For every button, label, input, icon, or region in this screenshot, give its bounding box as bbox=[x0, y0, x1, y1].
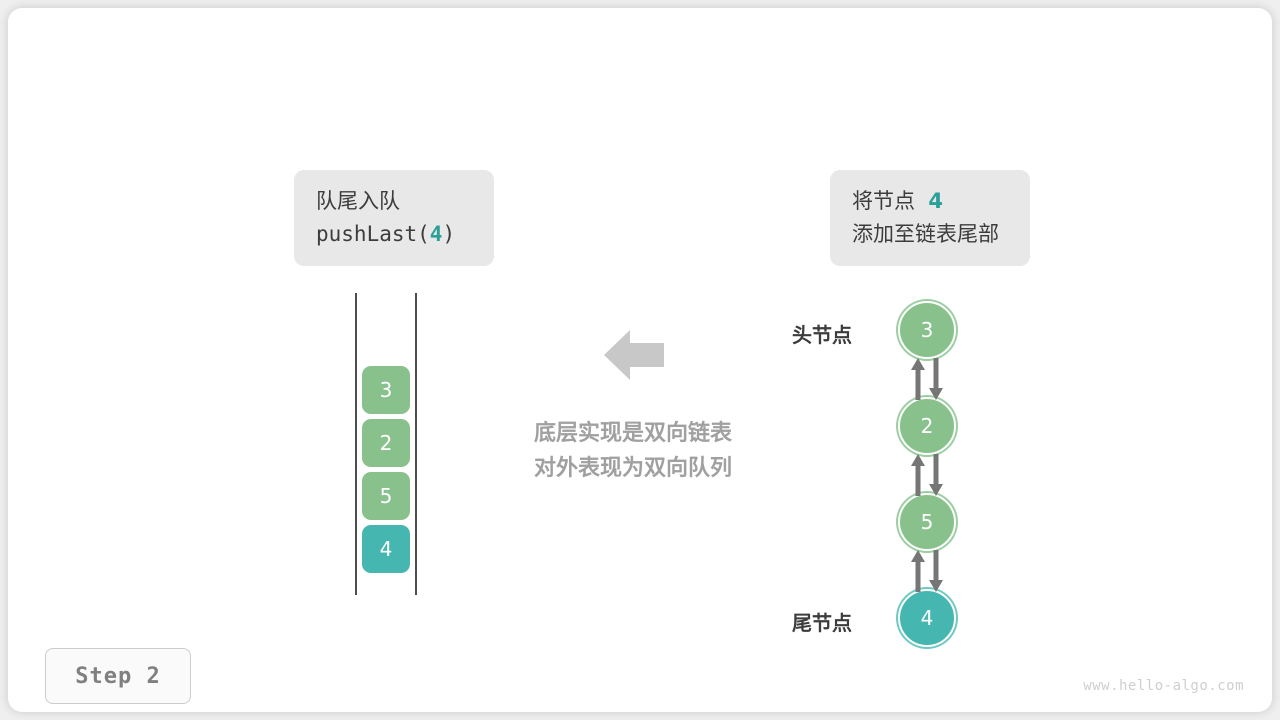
bidirectional-edge-icon bbox=[907, 358, 947, 400]
callout-left-code-value: 4 bbox=[430, 222, 443, 246]
callout-right-line2: 添加至链表尾部 bbox=[852, 218, 999, 251]
watermark: www.hello-algo.com bbox=[1083, 678, 1244, 694]
list-node: 5 bbox=[898, 493, 956, 551]
callout-right-line1-value: 4 bbox=[928, 189, 943, 213]
callout-left-code: pushLast(4) bbox=[316, 218, 455, 251]
list-node: 3 bbox=[898, 301, 956, 359]
callout-left-title: 队尾入队 bbox=[316, 185, 400, 218]
deque-cell: 5 bbox=[362, 472, 410, 520]
deque-cell: 3 bbox=[362, 366, 410, 414]
callout-left-code-suffix: ) bbox=[442, 222, 455, 246]
deque-rail-left bbox=[355, 293, 357, 595]
bidirectional-edge-icon bbox=[907, 454, 947, 496]
page-card: 队尾入队 pushLast(4) 将节点 4 添加至链表尾部 3 2 5 4 底… bbox=[8, 8, 1272, 712]
list-node: 2 bbox=[898, 397, 956, 455]
callout-left-code-prefix: pushLast( bbox=[316, 222, 430, 246]
left-arrow-icon bbox=[604, 328, 664, 382]
deque-cell: 4 bbox=[362, 525, 410, 573]
linked-list: 头节点 尾节点 3 2 5 4 bbox=[778, 293, 1008, 653]
callout-push-last: 队尾入队 pushLast(4) bbox=[294, 170, 494, 266]
head-node-label: 头节点 bbox=[792, 319, 852, 348]
step-badge: Step 2 bbox=[45, 648, 191, 704]
deque-cell: 2 bbox=[362, 419, 410, 467]
caption-line1: 底层实现是双向链表 bbox=[463, 416, 803, 451]
tail-node-label: 尾节点 bbox=[792, 607, 852, 636]
bidirectional-edge-icon bbox=[907, 550, 947, 592]
callout-right-line1-prefix: 将节点 bbox=[852, 189, 915, 213]
deque-column: 3 2 5 4 bbox=[348, 288, 428, 603]
list-node: 4 bbox=[898, 589, 956, 647]
screenshot-canvas: 队尾入队 pushLast(4) 将节点 4 添加至链表尾部 3 2 5 4 底… bbox=[0, 0, 1280, 720]
callout-right-line1: 将节点 4 bbox=[852, 185, 943, 218]
deque-rail-right bbox=[415, 293, 417, 595]
caption-line2: 对外表现为双向队列 bbox=[463, 451, 803, 486]
center-caption: 底层实现是双向链表 对外表现为双向队列 bbox=[463, 416, 803, 486]
callout-append-node: 将节点 4 添加至链表尾部 bbox=[830, 170, 1030, 266]
